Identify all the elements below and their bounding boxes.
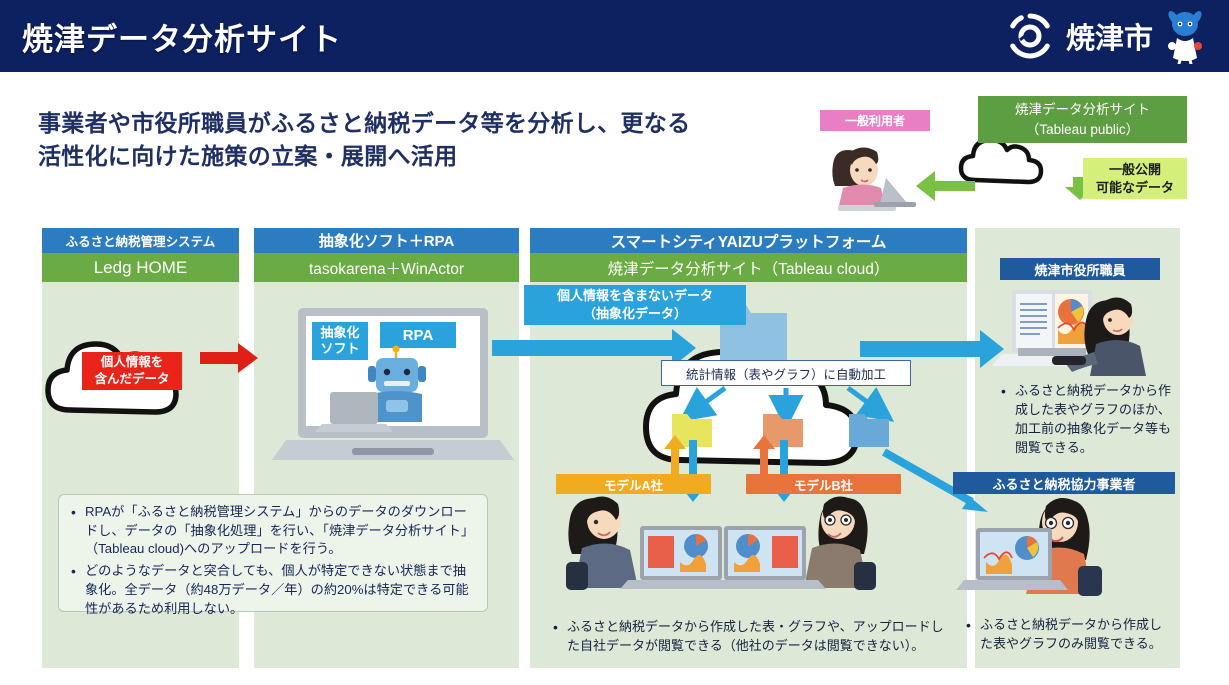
header-divider: [0, 72, 1229, 75]
public-user-illustration: [832, 148, 916, 212]
caption-tasokarena: tasokarena＋WinActor: [254, 253, 519, 282]
header-branding: 焼津市: [1004, 8, 1207, 64]
caption-abstraction-rpa: 抽象化ソフト＋RPA: [254, 228, 519, 253]
subtitle-line-1: 事業者や市役所職員がふるさと納税データ等を分析し、更なる: [38, 107, 798, 140]
note-box-rpa-process: RPAが「ふるさと納税管理システム」からのデータのダウンロードし、データの「抽象…: [58, 494, 488, 612]
label-model-b: モデルB社: [746, 474, 901, 494]
anonymized-line-1: 個人情報を含まないデータ: [557, 287, 713, 305]
label-abstraction-software: 抽象化 ソフト: [314, 324, 366, 358]
personal-data-line-2: 含んだデータ: [94, 371, 169, 388]
city-name: 焼津市: [1066, 15, 1153, 57]
caption-furusato-system: ふるさと納税管理システム: [42, 228, 239, 253]
note-bullet-1: RPAが「ふるさと納税管理システム」からのデータのダウンロードし、データの「抽象…: [69, 503, 477, 559]
caption-ledg-home: Ledg HOME: [42, 253, 239, 282]
subtitle-line-2: 活性化に向けた施策の立案・展開へ活用: [38, 140, 798, 173]
abstraction-software-line-2: ソフト: [320, 341, 359, 357]
note-models-access: ふるさと納税データから作成した表・グラフや、アップロードした自社データが閲覧でき…: [552, 618, 944, 656]
box-tableau-public: 焼津データ分析サイト （Tableau public）: [978, 96, 1187, 143]
personal-data-line-1: 個人情報を: [101, 354, 164, 371]
caption-smartcity-yaizu: スマートシティYAIZUプラットフォーム: [530, 228, 967, 253]
anonymized-line-2: （抽象化データ）: [583, 305, 687, 323]
caption-tableau-cloud: 焼津データ分析サイト（Tableau cloud）: [530, 253, 967, 282]
city-emblem-icon: [1004, 10, 1056, 62]
open-data-line-1: 一般公開: [1109, 161, 1161, 179]
box-open-data: 一般公開 可能なデータ: [1083, 158, 1187, 199]
public-cloud-icon: [961, 140, 1041, 182]
note-staff-access: ふるさと納税データから作成した表やグラフのほか、加工前の抽象化データ等も閲覧でき…: [1000, 382, 1175, 457]
tag-personal-data: 個人情報を 含んだデータ: [82, 352, 182, 390]
tableau-public-line-1: 焼津データ分析サイト: [1015, 100, 1150, 120]
tableau-public-line-2: （Tableau public）: [1026, 120, 1139, 140]
page-subtitle: 事業者や市役所職員がふるさと納税データ等を分析し、更なる 活性化に向けた施策の立…: [38, 107, 798, 172]
page-header: 焼津データ分析サイト 焼津市: [0, 0, 1229, 72]
label-rpa: RPA: [382, 324, 454, 346]
yaizu-mascot-icon: [1163, 8, 1207, 64]
label-partner: ふるさと納税協力事業者: [953, 472, 1175, 494]
abstraction-software-line-1: 抽象化: [320, 325, 359, 341]
note-partner-access: ふるさと納税データから作成した表やグラフのみ閲覧できる。: [965, 616, 1165, 654]
label-city-staff: 焼津市役所職員: [1000, 258, 1160, 280]
green-left-arrow-icon: [916, 171, 975, 201]
box-statistical-processing: 統計情報（表やグラフ）に自動加工: [661, 360, 911, 386]
page-title: 焼津データ分析サイト: [22, 14, 342, 59]
badge-general-user: 一般利用者: [820, 110, 930, 131]
banner-anonymized-data: 個人情報を含まないデータ （抽象化データ）: [524, 285, 746, 325]
label-model-a: モデルA社: [556, 474, 711, 494]
open-data-line-2: 可能なデータ: [1096, 179, 1174, 197]
note-bullet-2: どのようなデータと突合しても、個人が特定できない状態まで抽象化。全データ（約48…: [69, 562, 477, 618]
